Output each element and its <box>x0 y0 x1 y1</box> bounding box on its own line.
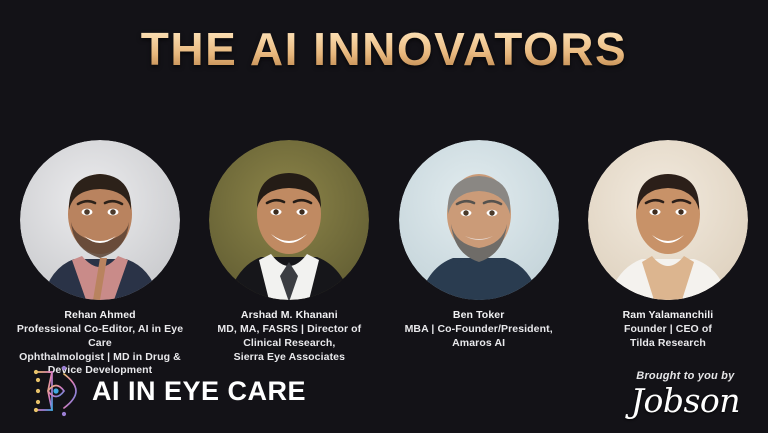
avatar <box>209 140 369 300</box>
slide-canvas: THE AI INNOVATORS <box>0 0 768 433</box>
ai-in-eye-care-logo[interactable]: AI IN EYE CARE <box>26 363 306 419</box>
speaker-list: Rehan Ahmed Professional Co-Editor, AI i… <box>0 140 768 378</box>
speaker-name: Rehan Ahmed <box>64 309 135 323</box>
speaker-role: MBA | Co-Founder/President, Amaros AI <box>405 323 553 351</box>
page-title: THE AI INNOVATORS <box>0 26 768 72</box>
circuit-eye-icon <box>26 363 82 419</box>
speaker-card[interactable]: Ben Toker MBA | Co-Founder/President, Am… <box>387 140 571 378</box>
speaker-role: Founder | CEO of Tilda Research <box>624 323 712 351</box>
speaker-card[interactable]: Arshad M. Khanani MD, MA, FASRS | Direct… <box>197 140 381 378</box>
speaker-name: Ram Yalamanchili <box>623 309 714 323</box>
speaker-card[interactable]: Ram Yalamanchili Founder | CEO of Tilda … <box>576 140 760 378</box>
jobson-wordmark: Jobson <box>631 384 740 417</box>
speaker-role: MD, MA, FASRS | Director of Clinical Res… <box>217 323 361 365</box>
speaker-card[interactable]: Rehan Ahmed Professional Co-Editor, AI i… <box>8 140 192 378</box>
ai-in-eye-care-wordmark: AI IN EYE CARE <box>92 378 306 405</box>
avatar <box>20 140 180 300</box>
avatar <box>588 140 748 300</box>
speaker-name: Ben Toker <box>453 309 504 323</box>
jobson-logo[interactable]: Brought to you by Jobson <box>631 370 740 417</box>
speaker-name: Arshad M. Khanani <box>241 309 338 323</box>
avatar <box>399 140 559 300</box>
